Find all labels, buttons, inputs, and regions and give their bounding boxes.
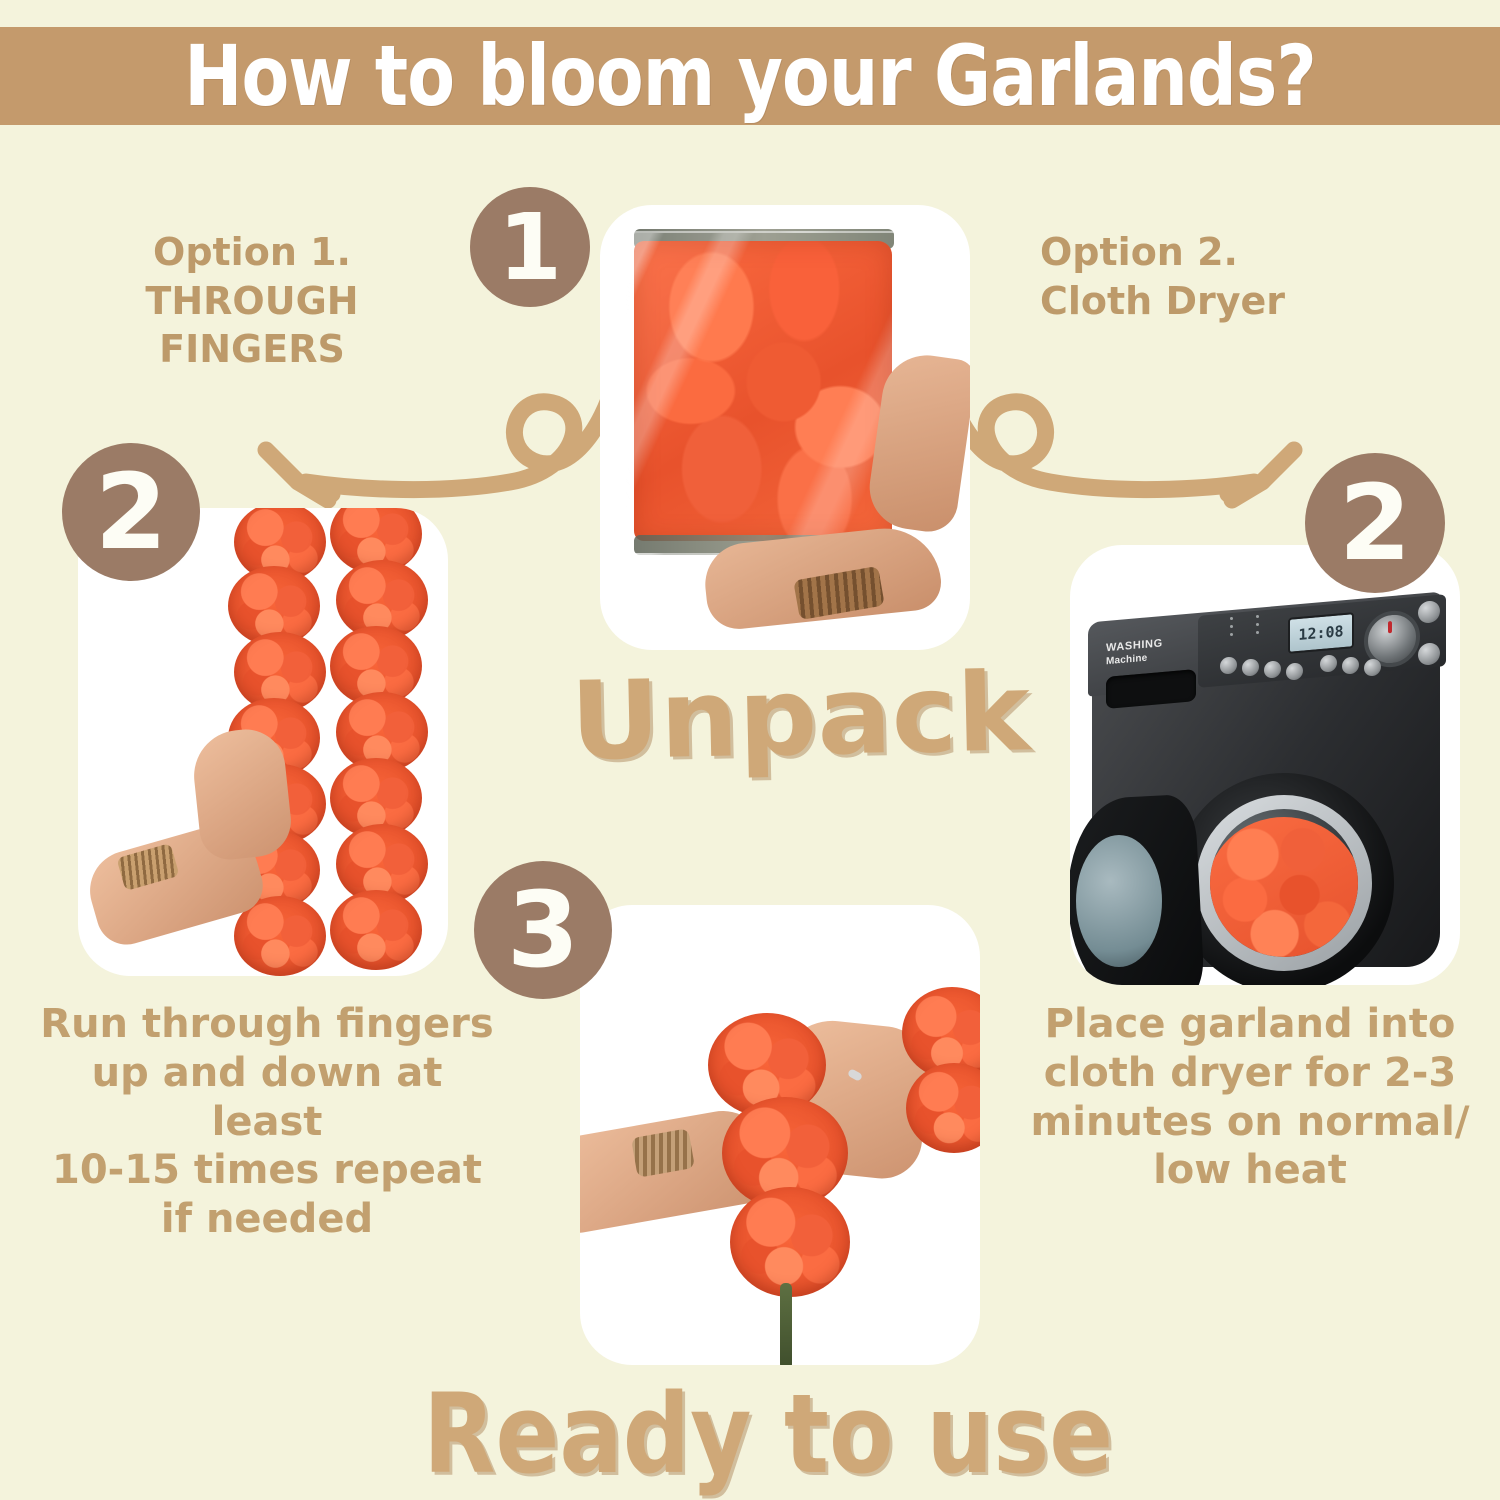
step-badge-3: 3	[474, 861, 612, 999]
header-banner: How to bloom your Garlands?	[0, 27, 1500, 125]
photo-unpack-bag	[600, 205, 970, 650]
pompom	[330, 890, 422, 970]
caption-through-fingers: Run through fingers up and down at least…	[32, 1000, 502, 1244]
display-screen: 12:08	[1288, 612, 1354, 654]
step-badge-2-right: 2	[1305, 453, 1445, 593]
caption-line: up and down at least	[32, 1049, 502, 1147]
caption-cloth-dryer: Place garland into cloth dryer for 2-3 m…	[1015, 1000, 1485, 1195]
option-2-label: Option 2. Cloth Dryer	[1040, 228, 1440, 325]
page-title: How to bloom your Garlands?	[184, 27, 1316, 125]
caption-line: Run through fingers	[32, 1000, 502, 1049]
caption-line: low heat	[1015, 1146, 1485, 1195]
infographic-canvas: How to bloom your Garlands? Option 1. TH…	[0, 0, 1500, 1500]
caption-line: Place garland into	[1015, 1000, 1485, 1049]
drum	[1210, 809, 1358, 957]
step-badge-1: 1	[470, 187, 590, 307]
option-2-line2: Cloth Dryer	[1040, 277, 1440, 326]
photo-cloth-dryer: WASHING Machine 12:08	[1070, 545, 1460, 985]
pompom	[730, 1187, 850, 1297]
option-1-line1: Option 1.	[52, 228, 452, 277]
curved-arrow-left-icon	[210, 330, 630, 530]
step-badge-2-left: 2	[62, 443, 200, 581]
caption-line: minutes on normal/	[1015, 1098, 1485, 1147]
caption-line: cloth dryer for 2-3	[1015, 1049, 1485, 1098]
garland-stem	[780, 1283, 792, 1365]
caption-line: if needed	[32, 1195, 502, 1244]
caption-line: 10-15 times repeat	[32, 1146, 502, 1195]
ready-to-use-caption: Ready to use	[423, 1370, 1113, 1498]
photo-bloomed-garland	[580, 905, 980, 1365]
compressed-garland-mass	[634, 241, 892, 541]
garland-inside-drum	[1210, 817, 1358, 957]
curved-arrow-right-icon	[930, 330, 1350, 530]
option-2-line1: Option 2.	[1040, 228, 1440, 277]
door-glass	[1076, 835, 1162, 967]
unpack-caption: Unpack	[569, 650, 1031, 784]
